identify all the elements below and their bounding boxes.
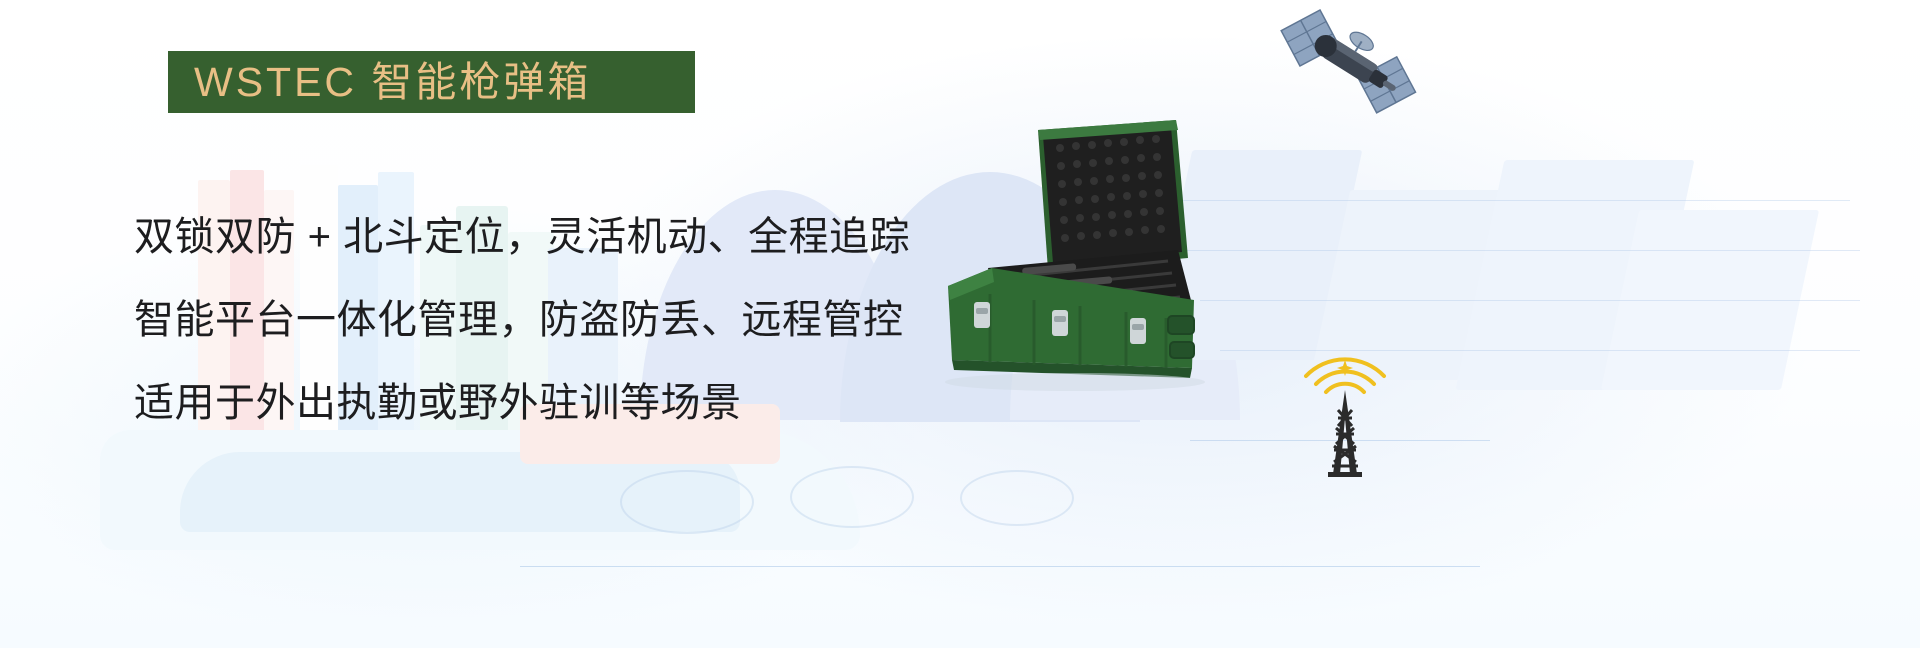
page-title: WSTEC 智能枪弹箱 bbox=[168, 62, 591, 103]
backdrop-ground-line bbox=[520, 566, 1480, 567]
backdrop-ring bbox=[960, 470, 1074, 526]
feature-line-2: 智能平台一体化管理，防盗防丢、远程管控 bbox=[134, 279, 964, 362]
backdrop-panel bbox=[1601, 210, 1819, 390]
feature-line-3: 适用于外出执勤或野外驻训等场景 bbox=[134, 362, 964, 445]
promo-banner: WSTEC 智能枪弹箱 双锁双防 + 北斗定位，灵活机动、全程追踪 智能平台一体… bbox=[0, 0, 1920, 648]
backdrop-ground bbox=[180, 452, 740, 532]
backdrop-panel bbox=[1456, 160, 1695, 390]
title-banner: WSTEC 智能枪弹箱 bbox=[168, 51, 695, 113]
backdrop-grid-line bbox=[1200, 300, 1860, 301]
backdrop-ring bbox=[790, 466, 914, 528]
satellite-icon bbox=[1280, 8, 1420, 118]
intelligent-ammunition-case-image bbox=[930, 118, 1270, 393]
backdrop-ring bbox=[620, 470, 754, 534]
feature-line-1: 双锁双防 + 北斗定位，灵活机动、全程追踪 bbox=[134, 196, 964, 279]
feature-list: 双锁双防 + 北斗定位，灵活机动、全程追踪 智能平台一体化管理，防盗防丢、远程管… bbox=[134, 196, 964, 445]
signal-tower-icon bbox=[1290, 348, 1400, 478]
backdrop-ground bbox=[100, 430, 860, 550]
backdrop-grid-line bbox=[1180, 250, 1860, 251]
